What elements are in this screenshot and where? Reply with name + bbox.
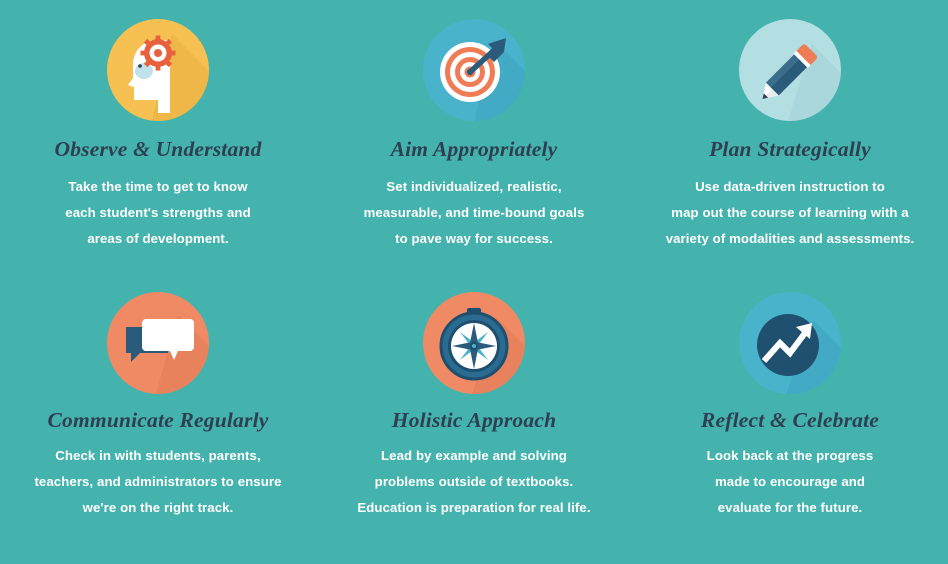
card-description: Check in with students, parents, teacher… — [34, 443, 281, 521]
card-title: Reflect & Celebrate — [701, 409, 879, 433]
desc-line: variety of modalities and assessments. — [666, 226, 915, 252]
card-communicate-regularly[interactable]: Communicate Regularly Check in with stud… — [0, 291, 316, 564]
desc-line: evaluate for the future. — [707, 495, 874, 521]
desc-line: measurable, and time-bound goals — [364, 200, 585, 226]
card-plan-strategically[interactable]: Plan Strategically Use data-driven instr… — [632, 18, 948, 291]
desc-line: we're on the right track. — [34, 495, 281, 521]
card-holistic-approach[interactable]: Holistic Approach Lead by example and so… — [316, 291, 632, 564]
infographic-board: Observe & Understand Take the time to ge… — [0, 0, 948, 564]
growth-chart-icon — [738, 291, 842, 395]
desc-line: Education is preparation for real life. — [357, 495, 590, 521]
card-reflect-celebrate[interactable]: Reflect & Celebrate Look back at the pro… — [632, 291, 948, 564]
desc-line: made to encourage and — [707, 469, 874, 495]
card-description: Lead by example and solving problems out… — [357, 443, 590, 521]
desc-line: Check in with students, parents, — [34, 443, 281, 469]
card-title: Holistic Approach — [392, 409, 556, 433]
speech-bubbles-icon — [106, 291, 210, 395]
head-gear-icon — [106, 18, 210, 122]
card-title: Observe & Understand — [54, 138, 261, 162]
card-row-bottom: Communicate Regularly Check in with stud… — [0, 291, 948, 564]
card-description: Use data-driven instruction to map out t… — [666, 174, 915, 252]
pencil-icon — [738, 18, 842, 122]
card-title: Aim Appropriately — [391, 138, 558, 162]
desc-line: Lead by example and solving — [357, 443, 590, 469]
desc-line: problems outside of textbooks. — [357, 469, 590, 495]
card-title: Plan Strategically — [709, 138, 871, 162]
card-title: Communicate Regularly — [47, 409, 268, 433]
card-observe-understand[interactable]: Observe & Understand Take the time to ge… — [0, 18, 316, 291]
card-row-top: Observe & Understand Take the time to ge… — [0, 18, 948, 291]
card-description: Set individualized, realistic, measurabl… — [364, 174, 585, 252]
compass-icon — [422, 291, 526, 395]
target-arrow-icon — [422, 18, 526, 122]
desc-line: Take the time to get to know — [65, 174, 250, 200]
desc-line: Look back at the progress — [707, 443, 874, 469]
card-description: Take the time to get to know each studen… — [65, 174, 250, 252]
desc-line: each student's strengths and — [65, 200, 250, 226]
desc-line: areas of development. — [65, 226, 250, 252]
card-description: Look back at the progress made to encour… — [707, 443, 874, 521]
desc-line: teachers, and administrators to ensure — [34, 469, 281, 495]
desc-line: Use data-driven instruction to — [666, 174, 915, 200]
desc-line: to pave way for success. — [364, 226, 585, 252]
desc-line: map out the course of learning with a — [666, 200, 915, 226]
card-aim-appropriately[interactable]: Aim Appropriately Set individualized, re… — [316, 18, 632, 291]
desc-line: Set individualized, realistic, — [364, 174, 585, 200]
